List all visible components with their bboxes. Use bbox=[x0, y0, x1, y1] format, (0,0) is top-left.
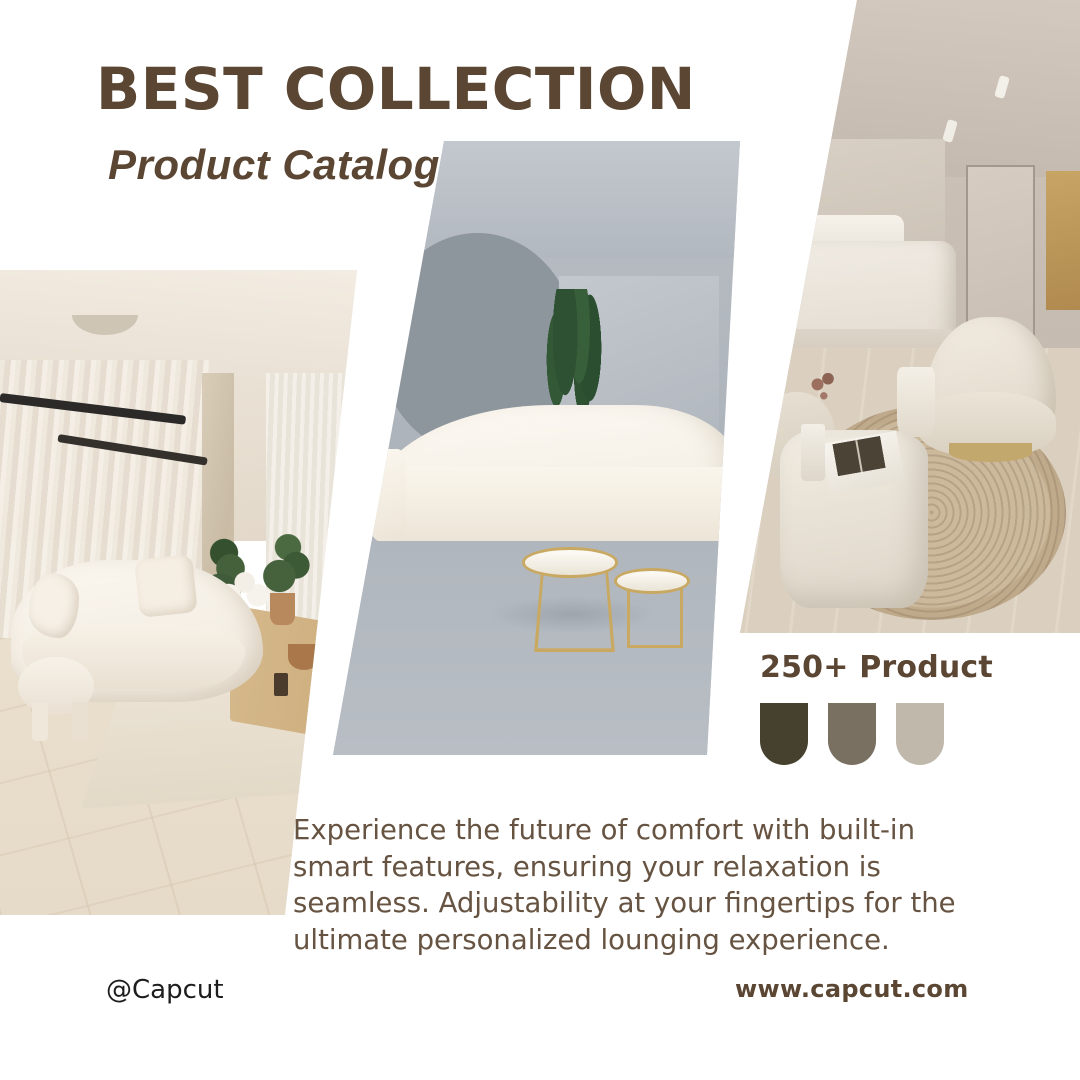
dark-cup bbox=[274, 673, 288, 696]
color-swatch-light-greige[interactable] bbox=[896, 703, 944, 765]
lounge-chair-brass-base bbox=[949, 443, 1032, 462]
color-swatch-list bbox=[760, 703, 993, 765]
marble-coffee-table-small bbox=[614, 568, 690, 594]
sofa-cushion-right bbox=[134, 554, 197, 618]
poster-canvas: BEST COLLECTION Product Catalog 250+ Pro… bbox=[0, 0, 1080, 1080]
grey-studio-scene bbox=[320, 141, 740, 756]
boucle-pouf bbox=[320, 528, 366, 602]
ceramic-vase bbox=[801, 424, 825, 481]
marble-coffee-table-large bbox=[522, 547, 619, 578]
product-count-block: 250+ Product bbox=[760, 650, 993, 765]
social-handle: @Capcut bbox=[106, 975, 224, 1005]
color-swatch-warm-taupe[interactable] bbox=[828, 703, 876, 765]
body-paragraph: Experience the future of comfort with bu… bbox=[293, 812, 963, 958]
gallery-image-neutral-bedroom bbox=[735, 0, 1080, 633]
sofa-armrest bbox=[368, 449, 406, 541]
wall-artwork bbox=[1046, 171, 1080, 310]
sofa-seat bbox=[379, 467, 740, 541]
header-block: BEST COLLECTION Product Catalog bbox=[96, 60, 696, 186]
coffee-table-legs-large bbox=[534, 569, 615, 652]
small-side-stool bbox=[897, 367, 935, 437]
product-count-label: 250+ Product bbox=[760, 650, 993, 685]
wooden-bowl bbox=[288, 644, 320, 670]
terracotta-pot bbox=[270, 593, 295, 625]
page-subtitle: Product Catalog bbox=[108, 144, 696, 186]
page-title: BEST COLLECTION bbox=[96, 60, 696, 118]
stool-leg-2 bbox=[72, 702, 88, 741]
dried-stems bbox=[807, 373, 842, 430]
stool-leg-1 bbox=[32, 702, 48, 741]
sofa-cushion-left bbox=[29, 573, 79, 638]
color-swatch-dark-olive-brown[interactable] bbox=[760, 703, 808, 765]
website-url[interactable]: www.capcut.com bbox=[735, 975, 969, 1003]
pendant-rod bbox=[94, 283, 99, 317]
gallery-image-grey-studio-sofa bbox=[320, 141, 740, 756]
neutral-bedroom-scene bbox=[735, 0, 1080, 633]
